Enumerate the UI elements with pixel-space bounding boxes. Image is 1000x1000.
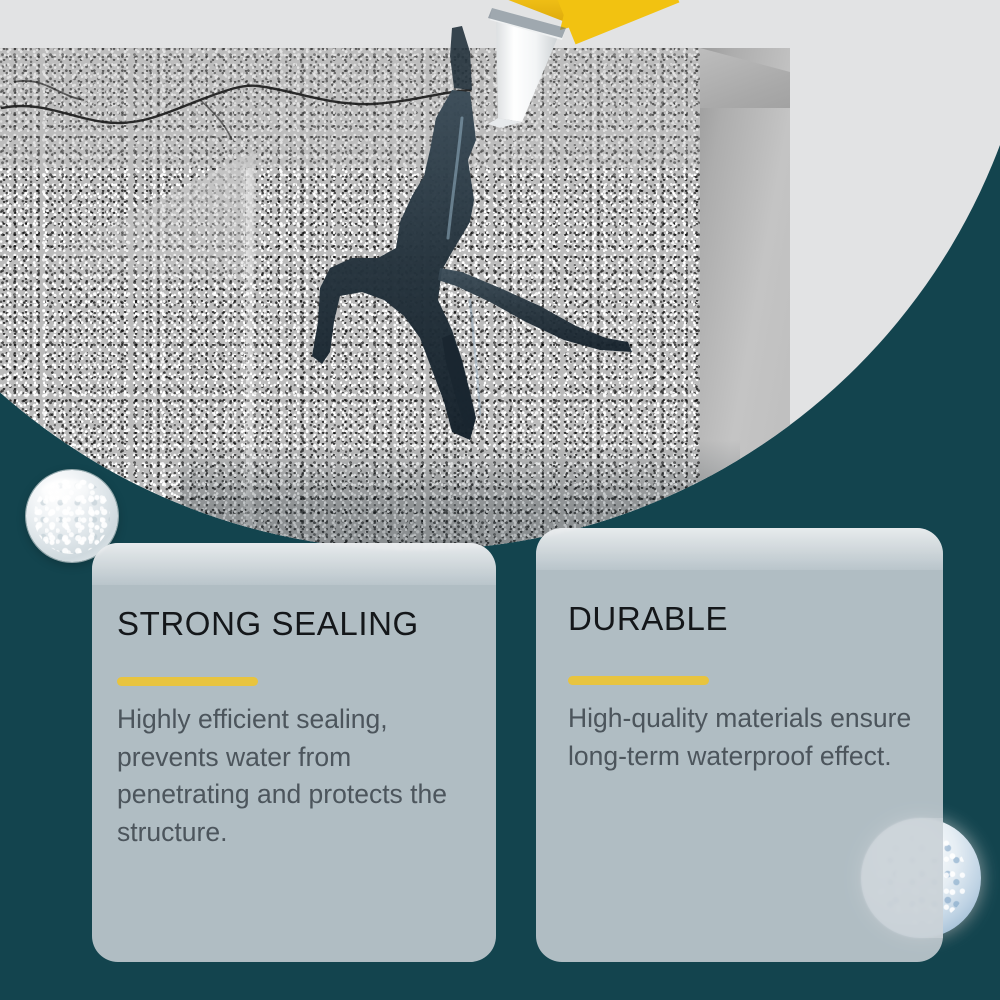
sealant-tube: [0, 0, 790, 190]
accent-underline: [568, 676, 709, 685]
feature-card-durable[interactable]: DURABLE High-quality materials ensure lo…: [536, 528, 943, 962]
card-frost-band: [92, 543, 496, 585]
feature-card-body: High-quality materials ensure long-term …: [568, 700, 918, 775]
accent-underline: [117, 677, 258, 686]
feature-card-strong-sealing[interactable]: STRONG SEALING Highly efficient sealing,…: [92, 543, 496, 962]
infographic-canvas: STRONG SEALING Highly efficient sealing,…: [0, 0, 1000, 1000]
card-frost-band: [536, 528, 943, 570]
feature-card-title: DURABLE: [568, 600, 728, 638]
feature-card-body: Highly efficient sealing, prevents water…: [117, 701, 469, 852]
feature-card-title: STRONG SEALING: [117, 605, 419, 643]
hero-photo: [0, 0, 790, 550]
